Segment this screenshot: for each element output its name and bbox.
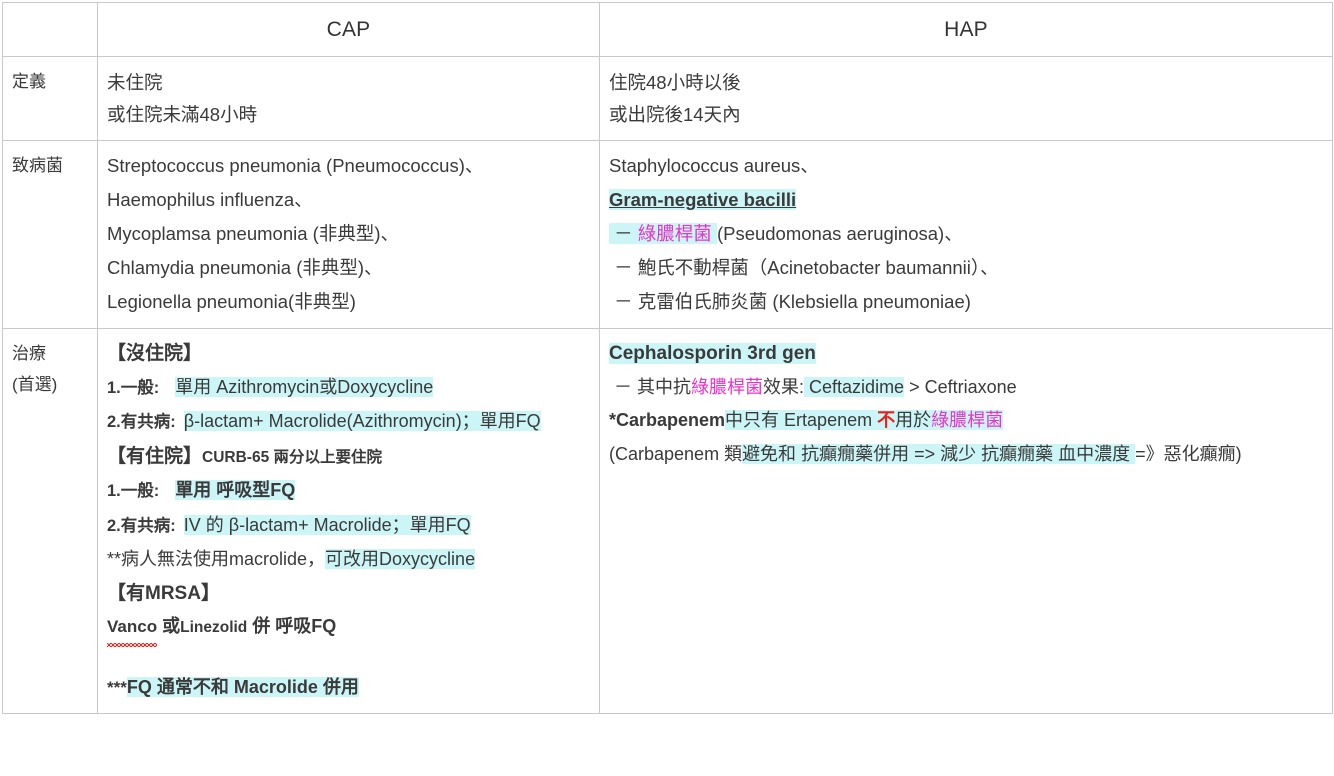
header-corner-cell <box>3 3 98 57</box>
pathogen-hap-item-2: Gram-negative bacilli <box>609 183 1326 217</box>
treatment-hap-interaction-effect: 減少 抗癲癇藥 血中濃度 <box>935 444 1135 464</box>
definition-hap-body: 住院48小時以後 或出院後14天內 <box>600 57 1332 140</box>
treatment-cap-cell: 【沒住院】 1.一般:單用 Azithromycin或Doxycycline 2… <box>98 329 600 714</box>
treatment-cap-linezolid: Linezolid <box>180 619 247 636</box>
treatment-hap-detail-effect: 效果: <box>763 377 804 397</box>
treatment-cap-vanco-misspelled: Vanco <box>107 610 157 644</box>
row-label-definition-cell: 定義 <box>3 57 98 141</box>
definition-cap-cell: 未住院 或住院未滿48小時 <box>98 57 600 141</box>
treatment-cap-heading-mrsa-text: 【有MRSA】 <box>107 583 220 604</box>
treatment-hap-carbapenem-pseudomonas: 綠膿桿菌 <box>931 410 1003 430</box>
treatment-hap-interaction-result: =》惡化癲癇) <box>1135 444 1242 464</box>
treatment-hap-ceftazidime: Ceftazidime <box>804 377 904 397</box>
treatment-hap-detail-pseudomonas: 綠膿桿菌 <box>691 377 763 397</box>
treatment-hap-body: Cephalosporin 3rd gen － 其中抗綠膿桿菌效果: Cefta… <box>600 329 1332 480</box>
pathogens-cap-body: Streptococcus pneumonia (Pneumococcus)、 … <box>98 141 599 328</box>
table-row-treatment: 治療 (首選) 【沒住院】 1.一般:單用 Azithromycin或Doxyc… <box>3 329 1333 714</box>
definition-hap-cell: 住院48小時以後 或出院後14天內 <box>600 57 1333 141</box>
treatment-hap-carbapenem-not: 不 <box>877 410 895 430</box>
treatment-cap-mrsa-regimen: Vanco 或Linezolid 併 呼吸FQ <box>107 610 593 645</box>
treatment-hap-cephalosporin-heading: Cephalosporin 3rd gen <box>609 337 1326 371</box>
table-row-definition: 定義 未住院 或住院未滿48小時 住院48小時以後 或出院後14天內 <box>3 57 1333 141</box>
treatment-hap-carbapenem-ertapenem: 中只有 Ertapenem <box>725 410 877 430</box>
treatment-cap-outpatient-item-2: 2.有共病:β-lactam+ Macrolide(Azithromycin)；… <box>107 405 593 440</box>
treatment-hap-detail-prefix: － 其中抗 <box>609 377 691 397</box>
treatment-cap-outpatient-item-1-label: 1.一般: <box>107 379 159 397</box>
treatment-cap-footnote-text: FQ 通常不和 Macrolide 併用 <box>127 677 359 697</box>
pathogen-cap-item-4-text: Chlamydia pneumonia (非典型)、 <box>107 257 383 278</box>
treatment-hap-cephalosporin-heading-text: Cephalosporin 3rd gen <box>609 343 816 364</box>
column-header-cap-label: CAP <box>98 3 599 56</box>
treatment-cap-inpatient-item-2: 2.有共病:IV 的 β-lactam+ Macrolide；單用FQ <box>107 509 593 544</box>
pathogens-hap-cell: Staphylococcus aureus、 Gram-negative bac… <box>600 141 1333 329</box>
treatment-cap-macrolide-note-text: **病人無法使用macrolide， <box>107 549 325 569</box>
treatment-cap-inpatient-item-1-label: 1.一般: <box>107 482 159 500</box>
treatment-cap-macrolide-note: **病人無法使用macrolide，可改用Doxycycline <box>107 543 593 577</box>
pathogen-hap-gram-negative-bacilli: Gram-negative bacilli <box>609 189 796 210</box>
treatment-cap-outpatient-item-1: 1.一般:單用 Azithromycin或Doxycycline <box>107 371 593 406</box>
definition-cap-line-2: 或住院未滿48小時 <box>107 99 593 131</box>
pathogen-cap-item-2: Haemophilus influenza、 <box>107 183 593 217</box>
column-header-hap: HAP <box>600 3 1333 57</box>
treatment-cap-curb65-note: CURB-65 兩分以上要住院 <box>202 449 382 466</box>
pathogen-cap-item-1: Streptococcus pneumonia (Pneumococcus)、 <box>107 149 593 183</box>
treatment-cap-inpatient-item-1: 1.一般:單用 呼吸型FQ <box>107 474 593 509</box>
treatment-hap-carbapenem-note: *Carbapenem中只有 Ertapenem 不用於綠膿桿菌 <box>609 404 1326 438</box>
treatment-cap-heading-outpatient-text: 【沒住院】 <box>107 343 202 364</box>
definition-hap-line-2: 或出院後14天內 <box>609 99 1326 131</box>
comparison-table-page: CAP HAP 定義 未住院 或住院未滿48小時 住院48小時以後 或出院後14… <box>0 0 1334 776</box>
pathogen-hap-item-5: － 克雷伯氏肺炎菌 (Klebsiella pneumoniae) <box>609 285 1326 319</box>
column-header-hap-label: HAP <box>600 3 1332 56</box>
treatment-cap-heading-inpatient: 【有住院】CURB-65 兩分以上要住院 <box>107 440 593 475</box>
treatment-cap-body: 【沒住院】 1.一般:單用 Azithromycin或Doxycycline 2… <box>98 329 599 713</box>
treatment-hap-carbapenem-for: 用於 <box>895 410 931 430</box>
treatment-hap-cell: Cephalosporin 3rd gen － 其中抗綠膿桿菌效果: Cefta… <box>600 329 1333 714</box>
treatment-hap-carbapenem-interaction: (Carbapenem 類避免和 抗癲癇藥併用 => 減少 抗癲癇藥 血中濃度 … <box>609 438 1326 472</box>
treatment-hap-ceftriaxone: > Ceftriaxone <box>904 377 1017 397</box>
column-header-cap: CAP <box>98 3 600 57</box>
treatment-cap-inpatient-item-2-value: IV 的 β-lactam+ Macrolide；單用FQ <box>184 515 471 535</box>
treatment-hap-cephalosporin-detail: － 其中抗綠膿桿菌效果: Ceftazidime > Ceftriaxone <box>609 371 1326 405</box>
pathogen-cap-item-3-text: Mycoplamsa pneumonia (非典型)、 <box>107 223 399 244</box>
treatment-cap-footnote: ***FQ 通常不和 Macrolide 併用 <box>107 671 593 705</box>
definition-hap-line-1: 住院48小時以後 <box>609 67 1326 99</box>
pathogen-hap-item-3: － 綠膿桿菌 (Pseudomonas aeruginosa)、 <box>609 217 1326 251</box>
treatment-cap-heading-inpatient-text: 【有住院】 <box>107 446 202 467</box>
row-label-definition: 定義 <box>3 57 97 103</box>
pathogen-hap-item-4: － 鮑氏不動桿菌（Acinetobacter baumannii）、 <box>609 251 1326 285</box>
row-label-treatment-cell: 治療 (首選) <box>3 329 98 714</box>
row-label-pathogens-cell: 致病菌 <box>3 141 98 329</box>
pathogen-hap-item-1: Staphylococcus aureus、 <box>609 149 1326 183</box>
pathogen-cap-item-5-text: Legionella pneumonia(非典型) <box>107 291 356 312</box>
treatment-cap-footnote-stars: *** <box>107 678 127 697</box>
pathogen-cap-item-5: Legionella pneumonia(非典型) <box>107 285 593 319</box>
treatment-cap-outpatient-item-2-value: β-lactam+ Macrolide(Azithromycin)；單用FQ <box>184 411 541 431</box>
treatment-cap-heading-outpatient: 【沒住院】 <box>107 337 593 371</box>
treatment-cap-spacer <box>107 645 593 671</box>
treatment-cap-outpatient-item-1-value: 單用 Azithromycin或Doxycycline <box>175 377 433 397</box>
treatment-cap-mrsa-or: 或 <box>157 616 180 636</box>
treatment-cap-inpatient-item-2-label: 2.有共病: <box>107 517 176 535</box>
definition-cap-body: 未住院 或住院未滿48小時 <box>98 57 599 140</box>
table-row-pathogens: 致病菌 Streptococcus pneumonia (Pneumococcu… <box>3 141 1333 329</box>
definition-cap-line-1: 未住院 <box>107 67 593 99</box>
treatment-cap-inpatient-item-1-value: 單用 呼吸型FQ <box>175 480 295 500</box>
pathogen-cap-item-3: Mycoplamsa pneumonia (非典型)、 <box>107 217 593 251</box>
row-label-treatment-main: 治療 <box>12 338 91 369</box>
treatment-hap-interaction-avoid: 避免和 抗癲癇藥併用 => <box>742 444 935 464</box>
pathogen-cap-item-4: Chlamydia pneumonia (非典型)、 <box>107 251 593 285</box>
treatment-hap-interaction-prefix: (Carbapenem 類 <box>609 444 742 464</box>
treatment-cap-heading-mrsa: 【有MRSA】 <box>107 577 593 611</box>
pathogen-hap-pseudomonas-prefix: － 綠膿桿菌 <box>609 223 717 244</box>
treatment-cap-macrolide-note-alt: 可改用Doxycycline <box>325 549 475 569</box>
row-label-treatment-sub: (首選) <box>12 369 91 400</box>
treatment-cap-mrsa-combo: 併 呼吸FQ <box>247 616 336 636</box>
pathogens-hap-body: Staphylococcus aureus、 Gram-negative bac… <box>600 141 1332 328</box>
table-header-row: CAP HAP <box>3 3 1333 57</box>
treatment-cap-outpatient-item-2-label: 2.有共病: <box>107 413 176 431</box>
pathogens-cap-cell: Streptococcus pneumonia (Pneumococcus)、 … <box>98 141 600 329</box>
row-label-pathogens: 致病菌 <box>3 141 97 187</box>
cap-hap-comparison-table: CAP HAP 定義 未住院 或住院未滿48小時 住院48小時以後 或出院後14… <box>2 2 1333 714</box>
treatment-hap-carbapenem-label: *Carbapenem <box>609 410 725 430</box>
pathogen-hap-pseudomonas-cn: 綠膿桿菌 <box>638 223 712 244</box>
row-label-treatment: 治療 (首選) <box>3 329 97 406</box>
